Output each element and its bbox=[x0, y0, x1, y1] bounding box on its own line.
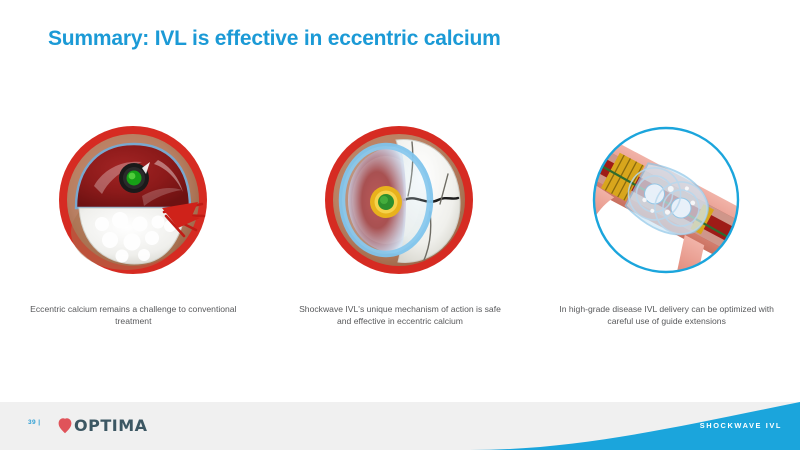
panel-caption: In high-grade disease IVL delivery can b… bbox=[559, 303, 774, 327]
optima-logo: OPTIMA bbox=[58, 414, 148, 436]
optima-wordmark: OPTIMA bbox=[74, 416, 148, 435]
ivl-cross-section-icon bbox=[312, 112, 487, 287]
guide-extension-vessel-icon bbox=[579, 112, 754, 287]
artery-cross-section-icon bbox=[46, 112, 221, 287]
ivl-balloon-cracked-calcium-figure bbox=[312, 112, 487, 287]
shockwave-ivl-logo: SHOCKWAVE IVL bbox=[700, 421, 782, 430]
panel-caption: Eccentric calcium remains a challenge to… bbox=[26, 303, 241, 327]
panel-guide-extension: In high-grade disease IVL delivery can b… bbox=[542, 112, 792, 327]
eccentric-calcium-cross-section-figure bbox=[46, 112, 221, 287]
page-title: Summary: IVL is effective in eccentric c… bbox=[48, 27, 501, 51]
slide: Summary: IVL is effective in eccentric c… bbox=[0, 0, 800, 450]
panel-ivl-mechanism: Shockwave IVL's unique mechanism of acti… bbox=[275, 112, 525, 327]
guide-extension-longitudinal-figure bbox=[579, 112, 754, 287]
panel-caption: Shockwave IVL's unique mechanism of acti… bbox=[292, 303, 507, 327]
page-number: 39 | bbox=[28, 419, 40, 426]
figure-panels: Eccentric calcium remains a challenge to… bbox=[0, 112, 800, 327]
optima-mark-icon bbox=[58, 417, 72, 434]
panel-eccentric-calcium: Eccentric calcium remains a challenge to… bbox=[8, 112, 258, 327]
